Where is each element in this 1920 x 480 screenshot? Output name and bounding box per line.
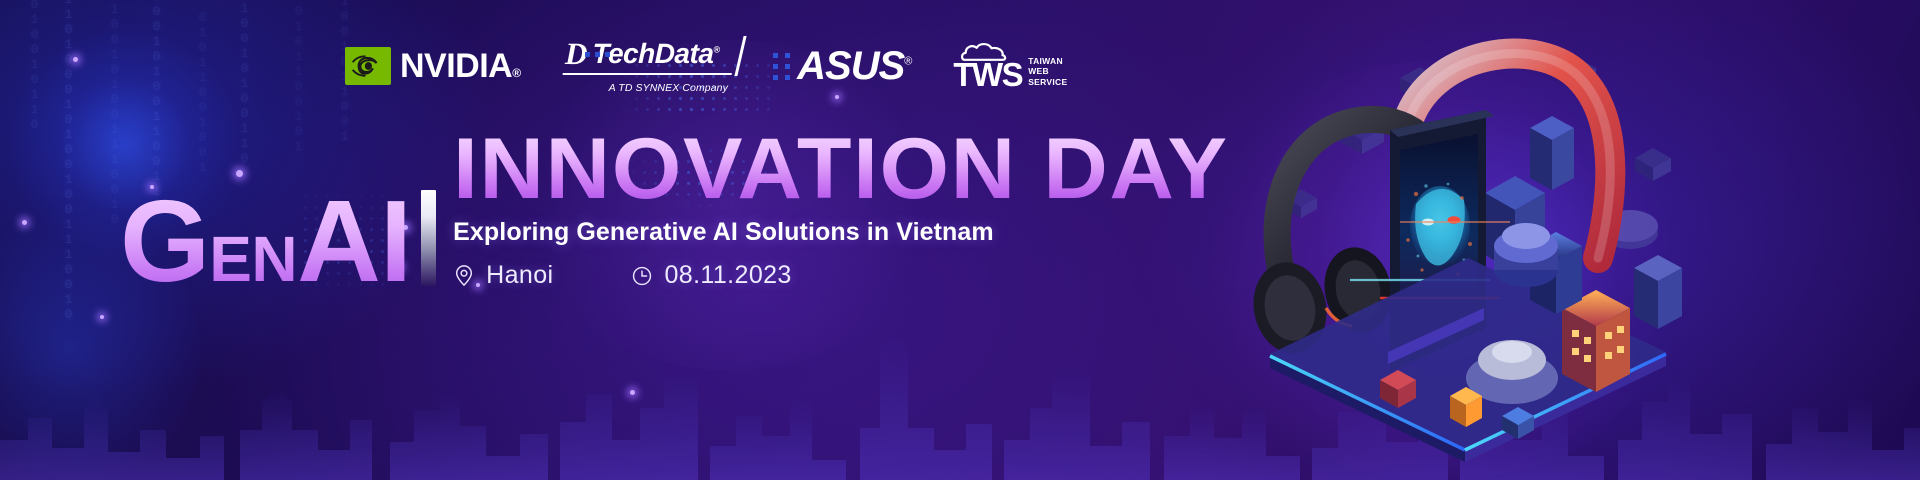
tws-wordmark: TWS — [953, 58, 1022, 91]
logo-tech-data[interactable]: D TechData® A TD SYNNEX Company — [563, 38, 732, 94]
tech-data-dots — [585, 52, 610, 57]
tech-data-monogram: D — [564, 38, 587, 69]
tech-data-wordmark: D TechData® — [562, 38, 731, 75]
genai-title: GENAI — [120, 192, 415, 292]
ai-isometric-city-illustration — [1230, 8, 1700, 478]
event-subtitle: Exploring Generative AI Solutions in Vie… — [453, 218, 1199, 247]
tech-data-words: TechData® — [592, 40, 720, 68]
title-divider-bar — [421, 190, 436, 286]
location-pin-icon — [453, 265, 475, 287]
logo-tws[interactable]: TWS TAIWAN WEB SERVICE — [953, 42, 1067, 91]
sparkle-dot — [100, 315, 104, 319]
sparkle-dot — [630, 390, 635, 395]
binary-column: 0010010110 — [28, 0, 41, 132]
binary-column: 1101000101001001110010 — [62, 0, 75, 322]
logo-asus[interactable]: ASUS® — [773, 46, 911, 86]
event-date-label: 08.11.2023 — [664, 261, 791, 290]
event-date: 08.11.2023 — [631, 261, 791, 290]
tech-data-slash — [734, 36, 746, 76]
sparkle-dot — [73, 57, 78, 62]
innovation-day-title: INNOVATION DAY — [453, 130, 1229, 209]
tws-tagline-line2: WEB — [1028, 66, 1067, 77]
headline-block: GENAI INNOVATION DAY Exploring Generativ… — [120, 130, 1199, 292]
logo-nvidia[interactable]: NVIDIA® — [345, 47, 521, 85]
tws-tagline: TAIWAN WEB SERVICE — [1028, 56, 1067, 91]
partner-logo-row: NVIDIA® D TechData® A TD SYNNEX Company … — [345, 38, 1067, 94]
asus-wordmark: ASUS® — [797, 46, 911, 86]
tws-tagline-line1: TAIWAN — [1028, 56, 1067, 67]
nvidia-wordmark: NVIDIA® — [400, 49, 521, 83]
clock-icon — [631, 265, 653, 287]
sparkle-dot — [835, 95, 839, 99]
nvidia-eye-icon — [345, 47, 391, 85]
sparkle-dot — [22, 220, 27, 225]
tech-data-tagline: A TD SYNNEX Company — [609, 82, 728, 94]
event-meta-row: Hanoi 08.11.2023 — [453, 261, 1199, 290]
event-location-label: Hanoi — [486, 261, 553, 290]
event-location: Hanoi — [453, 261, 553, 290]
genai-innovation-day-banner: 0010010110110100010100100111001010010100… — [0, 0, 1920, 480]
asus-dots — [773, 53, 791, 80]
tws-tagline-line3: SERVICE — [1028, 77, 1067, 88]
